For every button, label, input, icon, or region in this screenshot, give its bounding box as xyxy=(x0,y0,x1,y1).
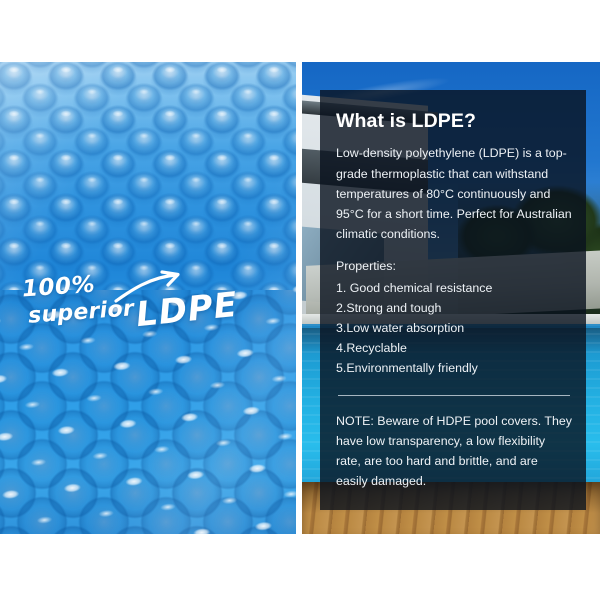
bubble-highlight-glints xyxy=(0,273,296,534)
list-item-number: 2. xyxy=(336,301,346,315)
card-title: What is LDPE? xyxy=(336,110,572,132)
list-item-number: 5. xyxy=(336,361,346,375)
list-item-label: Low water absorption xyxy=(346,321,464,335)
note-block: NOTE: Beware of HDPE pool covers. They h… xyxy=(336,411,572,491)
card-divider xyxy=(338,395,570,396)
list-item-label: Environmentally friendly xyxy=(346,361,478,375)
info-card: What is LDPE? Low-density polyethylene (… xyxy=(320,90,586,510)
list-item-label: Strong and tough xyxy=(346,301,441,315)
properties-heading: Properties: xyxy=(336,257,572,277)
left-image-panel: 100% superior LDPE xyxy=(0,62,296,534)
list-item-label: Good chemical resistance xyxy=(346,281,492,295)
list-item: 2.Strong and tough xyxy=(336,298,572,318)
list-item: 1. Good chemical resistance xyxy=(336,278,572,298)
list-item: 4.Recyclable xyxy=(336,338,572,358)
list-item-number: 4. xyxy=(336,341,346,355)
list-item: 5.Environmentally friendly xyxy=(336,358,572,378)
right-image-panel: What is LDPE? Low-density polyethylene (… xyxy=(302,62,600,534)
card-description: Low-density polyethylene (LDPE) is a top… xyxy=(336,143,572,243)
list-item-number: 3. xyxy=(336,321,346,335)
infographic-canvas: 100% superior LDPE What is LDPE? Low-den… xyxy=(0,0,600,600)
properties-list: 1. Good chemical resistance 2.Strong and… xyxy=(336,278,572,378)
list-item-number: 1. xyxy=(336,281,346,295)
note-text: NOTE: Beware of HDPE pool covers. They h… xyxy=(336,411,572,491)
list-item: 3.Low water absorption xyxy=(336,318,572,338)
bubble-dome-dimples xyxy=(0,62,296,290)
list-item-label: Recyclable xyxy=(346,341,407,355)
